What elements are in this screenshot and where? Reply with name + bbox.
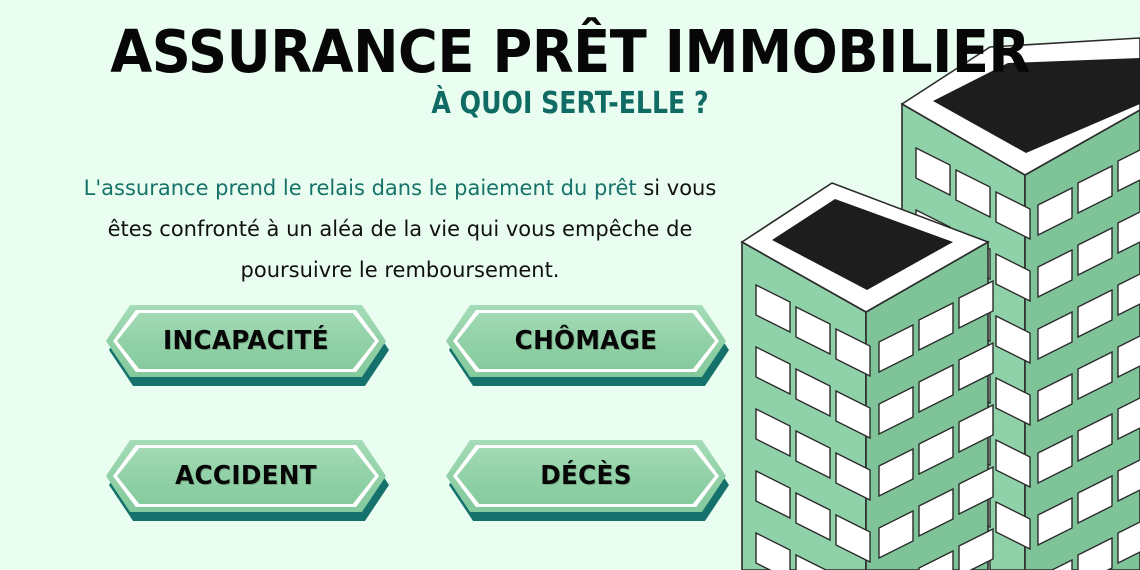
building-front	[742, 183, 993, 570]
risk-button-label: CHÔMAGE	[453, 305, 719, 377]
page-title: ASSURANCE PRÊT IMMOBILIER	[46, 22, 1095, 82]
risk-button-label: DÉCÈS	[453, 440, 719, 512]
risk-button-chomage[interactable]: CHÔMAGE	[446, 305, 726, 381]
risk-buttons-grid: INCAPACITÉ CHÔMAGE ACCIDENT DÉCÈS	[106, 305, 746, 516]
lead-highlight-text: L'assurance prend le relais dans le paie…	[84, 176, 637, 200]
lead-paragraph: L'assurance prend le relais dans le paie…	[60, 168, 740, 291]
page-subtitle: À QUOI SERT-ELLE ?	[91, 88, 1049, 120]
header-block: ASSURANCE PRÊT IMMOBILIER À QUOI SERT-EL…	[0, 22, 1140, 120]
infographic-canvas: ASSURANCE PRÊT IMMOBILIER À QUOI SERT-EL…	[0, 0, 1140, 570]
risk-button-label: INCAPACITÉ	[113, 305, 379, 377]
risk-button-incapacite[interactable]: INCAPACITÉ	[106, 305, 386, 381]
risk-button-label: ACCIDENT	[113, 440, 379, 512]
risk-button-deces[interactable]: DÉCÈS	[446, 440, 726, 516]
risk-button-accident[interactable]: ACCIDENT	[106, 440, 386, 516]
lead-paragraph-block: L'assurance prend le relais dans le paie…	[60, 168, 740, 291]
